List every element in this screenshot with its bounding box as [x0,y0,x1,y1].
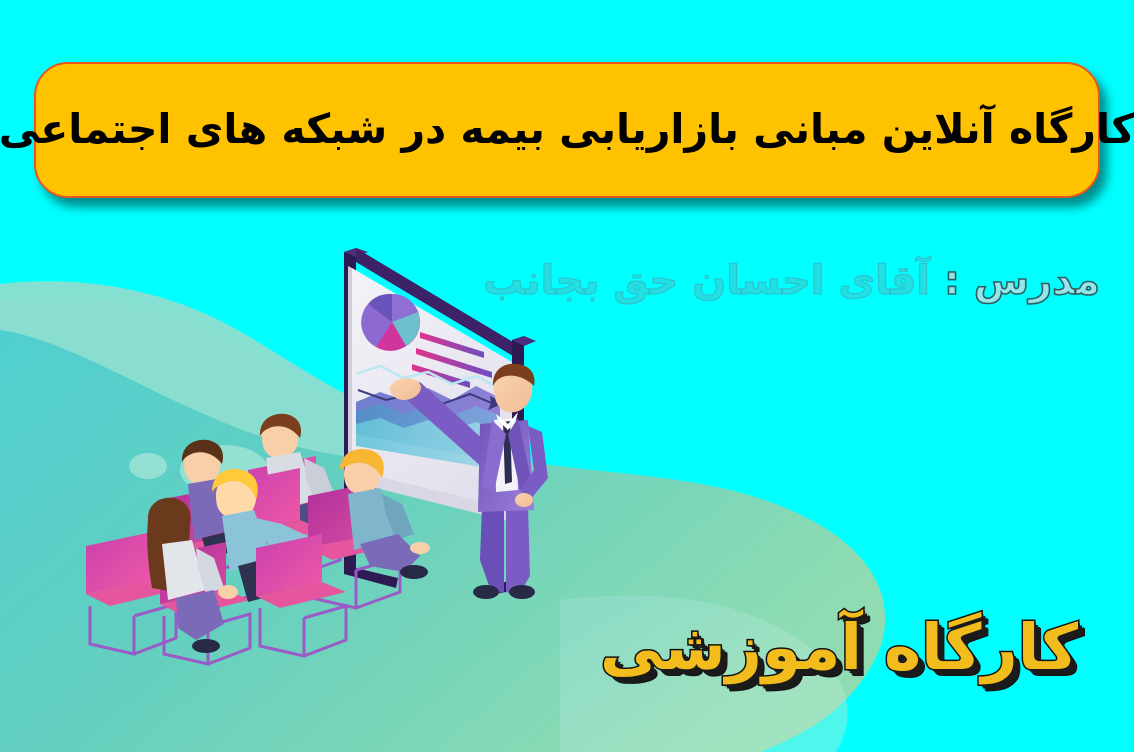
chair-right-1 [308,482,400,608]
board-rail-bottom [352,470,512,522]
board-screen-edge [348,266,352,470]
presenter-shirt [494,418,518,492]
presenter-leg-right [506,506,530,596]
blob-highlight-upper [0,281,506,461]
presenter-tie [503,421,512,484]
presenter-torso [478,420,534,512]
chair-back-1 [248,456,340,576]
presenter-collar [496,412,518,430]
attendee-purple [182,440,258,558]
chair-front-1 [86,532,176,654]
presenter-arm-hip [520,426,548,500]
presenter-lapel-right [508,418,532,490]
attendee-blonde [212,469,335,602]
chair-empty-left [90,526,156,588]
board-post-right-top [512,336,536,346]
presenter-figure [390,364,548,599]
presenter-hand-hip [515,493,533,507]
presenter-arm-raised [398,382,508,478]
presenter-leg-left [480,506,504,594]
blob-pebble-small [129,453,167,479]
trend-arrow-line [358,390,494,404]
title-text: کارگاه آنلاین مبانی بازاریابی بیمه در شب… [0,102,1134,157]
presenter-lapel [482,420,506,492]
footer-headline: کارگاه آموزشی [600,611,1078,684]
board-foot-right [478,576,524,598]
board-foot-left [344,556,398,588]
board-post-right [512,336,524,584]
title-banner: کارگاه آنلاین مبانی بازاریابی بیمه در شب… [34,62,1100,198]
presenter-shoe-left [473,585,499,599]
chair-front-2 [160,542,250,664]
board-screen [352,268,512,510]
board-post-rear [344,248,356,564]
trend-arrow-head [488,396,504,410]
presenter-hair [493,364,535,386]
presenter-shoe-right [509,585,535,599]
attendee-blonde-right [340,449,430,579]
board-post-rear-top [344,248,368,257]
blob-pebble-large [180,445,268,495]
bar-chart [412,332,492,388]
pie-chart [361,294,420,351]
attendee-long-hair [147,498,238,653]
chair-mid-2 [232,468,324,546]
instructor-label: مدرس : [944,258,1100,304]
audience-group [86,414,430,664]
chair-mid-1 [158,486,256,610]
chair-empty-center [256,534,346,656]
instructor-line: مدرس : آقای احسان حق بجانب [483,258,1100,304]
presenter-hand-raised [390,378,421,400]
presenter-head [494,368,532,413]
board-charts [356,294,504,470]
area-chart [356,366,504,470]
instructor-name: آقای احسان حق بجانب [483,258,930,304]
attendee-back-grey [260,414,350,530]
poster-canvas: کارگاه آنلاین مبانی بازاریابی بیمه در شب… [0,0,1134,752]
